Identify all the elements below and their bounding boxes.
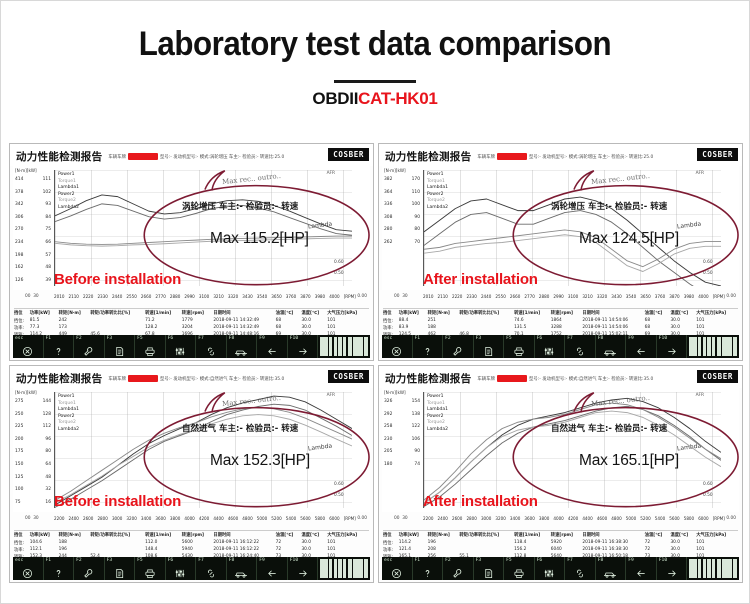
x-tick: 4400: [213, 516, 223, 521]
toolbar-button-f3[interactable]: F3: [105, 335, 136, 358]
x-tick: 2990: [553, 294, 563, 299]
toolbar-keypad[interactable]: [687, 557, 739, 580]
series-power1: [424, 398, 721, 503]
y-axis: [N·m][kW]3261542921382581222301062059018…: [384, 390, 424, 510]
x-axis-right-value: 0.00: [726, 294, 736, 299]
y-tick-row: 26270: [384, 237, 420, 250]
x-tick: 4000: [553, 516, 563, 521]
arrow-left-icon: [266, 568, 278, 579]
keypad-grid-right[interactable]: [717, 337, 738, 357]
table-cell: 208: [428, 546, 460, 553]
chart-area: [N·m][kW]3261542921382581222301062059018…: [382, 388, 739, 512]
toolbar-button-f10[interactable]: F10: [657, 335, 688, 358]
y-tick-right: 93: [45, 199, 51, 212]
arrow-right-icon: [297, 568, 309, 579]
y-tick-right: 80: [45, 446, 51, 459]
x-axis-origin: 00 30: [394, 516, 408, 521]
table-cell: 30.0: [670, 317, 696, 324]
y-tick-left: 230: [384, 434, 392, 447]
x-axis: 00 3020102110222023302440255026602770288…: [13, 294, 370, 307]
toolbar-key-label: F10: [659, 558, 667, 563]
table-cell: 2018-09-11 14:54:06: [582, 317, 644, 324]
keypad-grid-left[interactable]: [320, 559, 332, 579]
keypad-grid-mid[interactable]: [703, 337, 715, 357]
title-block: Laboratory test data comparison OBDIICAT…: [1, 1, 749, 109]
toolbar-button-f6[interactable]: F6: [535, 335, 566, 358]
table-cell: 功率:: [383, 546, 399, 553]
toolbar-button-f8[interactable]: F8: [596, 557, 627, 580]
toolbar-button-f6[interactable]: F6: [535, 557, 566, 580]
table-cell: 242: [59, 317, 91, 324]
meta-owner: 车主:-: [229, 154, 241, 160]
link-icon: [574, 346, 586, 357]
toolbar-button-f2[interactable]: F2: [74, 335, 105, 358]
sliders-icon: [174, 346, 186, 357]
data-table: 挡位功率[kW]转矩[N·m]转矩/功率转比比[%]转速[1/min]转速[rp…: [14, 308, 369, 338]
toolbar-key-label: F6: [168, 558, 174, 563]
meta-rpm-ratio: 转速比:35.0: [260, 376, 284, 382]
right-axis: 0.600.50: [703, 174, 720, 282]
table-cell: 121.4: [399, 546, 428, 553]
table-header-cell: 日期时间: [213, 309, 275, 317]
table-cell: 功率:: [14, 324, 30, 331]
table-cell: 2018-09-11 14:54:06: [582, 324, 644, 331]
table-cell: [90, 324, 145, 331]
panel-header: 动力性能检测报告车辆车牌型号:- 发动机型号:- 模式:自然进气 车主:- 检验…: [10, 366, 373, 388]
table-cell: 83.9: [399, 324, 428, 331]
toolbar-key-label: esc: [384, 336, 392, 341]
toolbar-key-label: F6: [537, 558, 543, 563]
series-power2: [55, 204, 352, 235]
keypad-grid-mid[interactable]: [334, 559, 346, 579]
x-tick: 2550: [126, 294, 136, 299]
keypad-grid-left[interactable]: [689, 559, 701, 579]
toolbar-button-f5[interactable]: F5: [504, 557, 535, 580]
x-tick: 2800: [97, 516, 107, 521]
toolbar-key-label: F10: [290, 336, 298, 341]
x-axis-origin: 00 30: [25, 516, 39, 521]
table-cell: 68: [276, 317, 302, 324]
table-header-cell: 转矩/功率转比比[%]: [90, 531, 145, 539]
y-tick-row: 27075: [15, 224, 51, 237]
close-circle-icon: [22, 346, 33, 357]
report-title: 动力性能检测报告: [16, 371, 102, 386]
x-tick: 2220: [452, 294, 462, 299]
toolbar-button-f1[interactable]: F1: [413, 335, 444, 358]
table-header-cell: 转矩[N·m]: [428, 531, 460, 539]
table-header-cell: 转矩[N·m]: [59, 531, 91, 539]
y-tick-right: 80: [414, 224, 420, 237]
y-tick-row: 364110: [384, 187, 420, 200]
y-tick-row: 34293: [15, 199, 51, 212]
x-tick: 3400: [510, 516, 520, 521]
y-tick-left: 280: [384, 224, 392, 237]
y-tick-row: 336100: [384, 199, 420, 212]
x-tick: 3870: [669, 294, 679, 299]
toolbar-button-f2[interactable]: F2: [443, 335, 474, 358]
table-cell: 挡位:: [383, 317, 399, 324]
close-circle-icon: [391, 346, 402, 357]
table-cell: 101: [327, 317, 369, 324]
right-axis: 0.600.50: [334, 396, 351, 504]
toolbar-key-label: F8: [598, 558, 604, 563]
toolbar-key-label: F5: [506, 558, 512, 563]
meta-inspector: 检验员:-: [611, 376, 627, 382]
printer-icon: [144, 346, 156, 357]
table-cell: 68: [645, 317, 671, 324]
right-axis-tick: 0.60: [334, 482, 351, 493]
y-tick-right: 74: [414, 459, 420, 472]
meta-inspector: 检验员:-: [242, 154, 258, 160]
toolbar-button-f2[interactable]: F2: [74, 557, 105, 580]
x-tick: [RPM]: [344, 294, 356, 299]
y-tick-row: 250128: [15, 409, 51, 422]
keypad-grid-mid[interactable]: [703, 559, 715, 579]
plot-canvas: Power1Torque1Lambda1Power2Torque2Lambda2…: [423, 170, 721, 286]
y-tick-row: 30684: [15, 212, 51, 225]
x-tick: 2770: [155, 294, 165, 299]
toolbar-button-esc[interactable]: esc: [382, 557, 413, 580]
toolbar-button-f7[interactable]: F7: [565, 557, 596, 580]
toolbar-key-label: F10: [290, 558, 298, 563]
toolbar-key-label: F8: [598, 336, 604, 341]
meta-mode: 模式:自然进气: [569, 376, 597, 382]
x-tick: 4400: [582, 516, 592, 521]
subtitle-model: CAT-HK01: [358, 89, 437, 108]
table-header-cell: 温度[℃]: [670, 531, 696, 539]
table-header-cell: 转矩[N·m]: [59, 309, 91, 317]
toolbar-button-f8[interactable]: F8: [227, 557, 258, 580]
redaction-bar: [128, 153, 158, 160]
x-tick: 5800: [315, 516, 325, 521]
table-cell: 30.0: [301, 317, 327, 324]
toolbar-keypad[interactable]: [318, 335, 370, 358]
x-tick-row: 2200240026002800300032003400360038004000…: [54, 516, 370, 521]
toolbar-key-label: esc: [384, 558, 392, 563]
printer-icon: [513, 568, 525, 579]
keypad-grid-mid[interactable]: [334, 337, 346, 357]
keypad-grid-left[interactable]: [320, 337, 332, 357]
arrow-left-icon: [266, 346, 278, 357]
x-tick: 3870: [300, 294, 310, 299]
y-tick-right: 48: [45, 472, 51, 485]
x-tick: 4800: [611, 516, 621, 521]
table-header-cell: 转矩[N·m]: [428, 309, 460, 317]
toolbar-button-esc[interactable]: esc: [382, 335, 413, 358]
report-title: 动力性能检测报告: [385, 371, 471, 386]
table-header-cell: 转速[1/min]: [145, 531, 182, 539]
table-header-cell: 温度[℃]: [301, 531, 327, 539]
panel-header: 动力性能检测报告车辆车牌型号:- 发动机型号:- 模式:涡轮增压 车主:- 检验…: [10, 144, 373, 166]
toolbar-button-f6[interactable]: F6: [166, 335, 197, 358]
x-tick: 3430: [242, 294, 252, 299]
x-axis: 00 3020102110222023302440255026602770288…: [382, 294, 739, 307]
wrench-icon: [452, 568, 463, 579]
y-tick-right: 39: [45, 275, 51, 288]
table-cell: [90, 546, 145, 553]
toolbar-key-label: F8: [229, 558, 235, 563]
toolbar-key-label: F3: [476, 558, 482, 563]
y-tick-left: 198: [15, 250, 23, 263]
y-tick-row: 382170: [384, 174, 420, 187]
x-tick-row: 2010211022202330244025502660277028802990…: [423, 294, 739, 299]
toolbar-button-f5[interactable]: F5: [135, 557, 166, 580]
table-header-cell: 挡位: [14, 531, 30, 539]
y-tick-left: 225: [15, 421, 23, 434]
right-axis-tick: 0.60: [334, 260, 351, 271]
toolbar-button-esc[interactable]: esc: [13, 557, 44, 580]
table-header-row: 挡位功率[kW]转矩[N·m]转矩/功率转比比[%]转速[1/min]转速[rp…: [383, 309, 738, 317]
table-row: 功率:121.4208156.260402018-09-11 16:38:307…: [383, 546, 738, 553]
y-tick-right: 57: [45, 250, 51, 263]
y-tick-left: 162: [15, 262, 23, 275]
x-tick: 4600: [228, 516, 238, 521]
toolbar-button-f3[interactable]: F3: [474, 557, 505, 580]
page-title: Laboratory test data comparison: [31, 25, 719, 64]
meta-inspector: 检验员:-: [242, 376, 258, 382]
toolbar-button-f10[interactable]: F10: [657, 557, 688, 580]
printer-icon: [513, 346, 525, 357]
table-cell: 114.2: [399, 539, 428, 546]
y-tick-left: 200: [15, 434, 23, 447]
x-tick: 3540: [257, 294, 267, 299]
meta-rpm-ratio: 转速比:35.0: [629, 376, 653, 382]
x-tick: 3980: [684, 294, 694, 299]
meta-rpm-ratio: 转速比:25.0: [629, 154, 653, 160]
table-cell: 30.0: [301, 539, 327, 546]
right-axis-tick: 0.50: [334, 493, 351, 504]
y-tick-left: 125: [15, 472, 23, 485]
y-axis-unit: [N·m][kW]: [384, 168, 424, 173]
y-tick-right: 111: [43, 174, 51, 187]
table-header-cell: 大气压力[kPa]: [696, 531, 738, 539]
x-tick: 3760: [655, 294, 665, 299]
right-axis-tick: 0.60: [703, 482, 720, 493]
keypad-grid-right[interactable]: [348, 559, 369, 579]
toolbar-key-label: F7: [567, 558, 573, 563]
table-cell: 71.2: [145, 317, 182, 324]
x-tick: [RPM]: [713, 294, 725, 299]
y-tick-right: 170: [412, 174, 420, 187]
x-tick-row: 2010211022202330244025502660277028802990…: [54, 294, 370, 299]
right-axis: 0.600.50: [703, 396, 720, 504]
x-tick: 2880: [539, 294, 549, 299]
toolbar-button-f9[interactable]: F9: [257, 335, 288, 358]
report-panel-bottom-left: 动力性能检测报告车辆车牌型号:- 发动机型号:- 模式:自然进气 车主:- 检验…: [9, 365, 374, 583]
table-header-cell: 挡位: [383, 531, 399, 539]
x-axis-origin: 00 30: [394, 294, 408, 299]
y-tick-row: 10032: [15, 484, 51, 497]
y-tick-row: 20590: [384, 446, 420, 459]
toolbar-key-label: esc: [15, 336, 23, 341]
y-tick-left: 342: [15, 199, 23, 212]
x-tick: 5400: [655, 516, 665, 521]
table-cell: 104.6: [30, 539, 59, 546]
toolbar-button-f6[interactable]: F6: [166, 557, 197, 580]
x-tick: 4000: [698, 294, 708, 299]
table-cell: 156.2: [514, 546, 551, 553]
table-cell: [459, 324, 514, 331]
toolbar-button-f1[interactable]: F1: [44, 335, 75, 358]
function-toolbar: escF1F2F3F5F6F7F8F9F10: [382, 335, 739, 358]
y-tick-left: 378: [15, 187, 23, 200]
x-tick: 2770: [524, 294, 534, 299]
meta-model: 型号:-: [529, 376, 541, 382]
toolbar-button-f7[interactable]: F7: [196, 557, 227, 580]
right-axis: 0.600.50: [334, 174, 351, 282]
meta-engine: 发动机型号:-: [542, 376, 567, 382]
y-tick-left: 175: [15, 446, 23, 459]
data-table: 挡位功率[kW]转矩[N·m]转矩/功率转比比[%]转速[1/min]转速[rp…: [383, 530, 738, 560]
table-cell: 101: [327, 539, 369, 546]
table-header-row: 挡位功率[kW]转矩[N·m]转矩/功率转比比[%]转速[1/min]转速[rp…: [14, 531, 369, 539]
meta-plate-label: 车辆车牌: [477, 154, 495, 160]
toolbar-key-label: F2: [76, 336, 82, 341]
toolbar-button-f2[interactable]: F2: [443, 557, 474, 580]
toolbar-button-f7[interactable]: F7: [196, 335, 227, 358]
x-tick: 2550: [495, 294, 505, 299]
table-header-cell: 转速[1/min]: [514, 531, 551, 539]
table-cell: 68: [276, 324, 302, 331]
arrow-right-icon: [666, 568, 678, 579]
toolbar-button-esc[interactable]: esc: [13, 335, 44, 358]
table-row: 挡位:88.425174.618642018-09-11 14:54:06683…: [383, 317, 738, 324]
table-header-cell: 转速[rpm]: [551, 531, 583, 539]
x-tick: 3320: [597, 294, 607, 299]
toolbar-button-f3[interactable]: F3: [105, 557, 136, 580]
table-row: 挡位:114.2196118.459202018-09-11 16:38:307…: [383, 539, 738, 546]
toolbar-button-f5[interactable]: F5: [504, 335, 535, 358]
toolbar-keypad[interactable]: [318, 557, 370, 580]
y-tick-left: 414: [15, 174, 23, 187]
x-tick: 5000: [626, 516, 636, 521]
x-tick: [RPM]: [713, 516, 725, 521]
plot-canvas: Power1Torque1Lambda1Power2Torque2Lambda2…: [54, 392, 352, 508]
x-tick: 2880: [170, 294, 180, 299]
toolbar-button-f10[interactable]: F10: [288, 335, 319, 358]
y-tick-row: 12639: [15, 275, 51, 288]
table-cell: 188: [428, 324, 460, 331]
toolbar-key-label: F7: [198, 336, 204, 341]
y-tick-row: 15064: [15, 459, 51, 472]
table-cell: 72: [276, 546, 302, 553]
y-tick-right: 64: [45, 459, 51, 472]
toolbar-button-f8[interactable]: F8: [596, 335, 627, 358]
y-tick-right: 138: [412, 409, 420, 422]
table-header-cell: 功率[kW]: [30, 531, 59, 539]
toolbar-button-f1[interactable]: F1: [44, 557, 75, 580]
x-tick: 3430: [611, 294, 621, 299]
y-tick-left: 336: [384, 199, 392, 212]
table-header-cell: 日期时间: [582, 309, 644, 317]
y-tick-row: 7516: [15, 497, 51, 510]
table-header-cell: 油温[℃]: [276, 309, 302, 317]
keypad-grid-right[interactable]: [348, 337, 369, 357]
y-tick-right: 16: [45, 497, 51, 510]
report-panel-top-right: 动力性能检测报告车辆车牌型号:- 发动机型号:- 模式:涡轮增压 车主:- 检验…: [378, 143, 743, 361]
x-tick: 3100: [568, 294, 578, 299]
report-panel-top-left: 动力性能检测报告车辆车牌型号:- 发动机型号:- 模式:涡轮增压 车主:- 检验…: [9, 143, 374, 361]
toolbar-button-f8[interactable]: F8: [227, 335, 258, 358]
car-icon: [603, 347, 617, 357]
keypad-grid-right[interactable]: [717, 559, 738, 579]
toolbar-key-label: F10: [659, 336, 667, 341]
table-cell: [90, 317, 145, 324]
y-tick-left: 270: [15, 224, 23, 237]
toolbar-button-f1[interactable]: F1: [413, 557, 444, 580]
x-tick: 2110: [68, 294, 78, 299]
table-cell: 2018-09-11 14:32:49: [213, 324, 275, 331]
toolbar-key-label: F5: [137, 558, 143, 563]
x-tick: 2110: [437, 294, 447, 299]
toolbar-button-f9[interactable]: F9: [626, 557, 657, 580]
table-header-cell: 功率[kW]: [30, 309, 59, 317]
arrow-right-icon: [297, 346, 309, 357]
toolbar-button-f7[interactable]: F7: [565, 335, 596, 358]
x-tick: 2220: [83, 294, 93, 299]
toolbar-button-f10[interactable]: F10: [288, 557, 319, 580]
table-cell: 2018-09-11 16:38:30: [582, 539, 644, 546]
y-tick-row: 23466: [15, 237, 51, 250]
toolbar-button-f5[interactable]: F5: [135, 335, 166, 358]
x-tick: 4200: [568, 516, 578, 521]
x-axis: 00 3022002400260028003000320034003600380…: [13, 516, 370, 529]
y-axis-unit: [N·m][kW]: [15, 168, 55, 173]
keypad-grid-left[interactable]: [689, 337, 701, 357]
toolbar-keypad[interactable]: [687, 335, 739, 358]
cosber-logo: COSBER: [328, 370, 369, 383]
y-tick-left: 308: [384, 212, 392, 225]
table-cell: 72: [645, 539, 671, 546]
chart-area: [N·m][kW]3821703641103361003089028080262…: [382, 166, 739, 290]
table-cell: 88.4: [399, 317, 428, 324]
y-tick-row: 414111: [15, 174, 51, 187]
y-tick-row: 12548: [15, 472, 51, 485]
title-divider: [334, 80, 416, 83]
table-header-cell: 大气压力[kPa]: [327, 309, 369, 317]
toolbar-key-label: F1: [415, 336, 421, 341]
table-cell: 2018-09-11 14:32:49: [213, 317, 275, 324]
table-cell: 101: [696, 539, 738, 546]
toolbar-button-f3[interactable]: F3: [474, 335, 505, 358]
table-cell: 72: [276, 539, 302, 546]
x-tick: 2660: [141, 294, 151, 299]
table-cell: 2018-09-11 16:38:30: [582, 546, 644, 553]
y-tick-left: 306: [15, 212, 23, 225]
x-tick: 3760: [286, 294, 296, 299]
y-axis: [N·m][kW]3821703641103361003089028080262…: [384, 168, 424, 288]
y-tick-row: 30890: [384, 212, 420, 225]
table-header-cell: 温度[℃]: [670, 309, 696, 317]
link-icon: [574, 568, 586, 579]
y-tick-left: 292: [384, 409, 392, 422]
plot-canvas: Power1Torque1Lambda1Power2Torque2Lambda2…: [423, 392, 721, 508]
y-tick-left: 364: [384, 187, 392, 200]
panel-header: 动力性能检测报告车辆车牌型号:- 发动机型号:- 模式:涡轮增压 车主:- 检验…: [379, 144, 742, 166]
table-header-cell: 油温[℃]: [276, 531, 302, 539]
toolbar-button-f9[interactable]: F9: [626, 335, 657, 358]
document-icon: [114, 568, 125, 579]
x-tick: 2330: [466, 294, 476, 299]
y-tick-row: 16248: [15, 262, 51, 275]
table-header-cell: 温度[℃]: [301, 309, 327, 317]
toolbar-key-label: F3: [476, 336, 482, 341]
toolbar-button-f9[interactable]: F9: [257, 557, 288, 580]
toolbar-key-label: F9: [628, 336, 634, 341]
wrench-icon: [452, 346, 463, 357]
table-cell: 196: [428, 539, 460, 546]
toolbar-key-label: F3: [107, 558, 113, 563]
